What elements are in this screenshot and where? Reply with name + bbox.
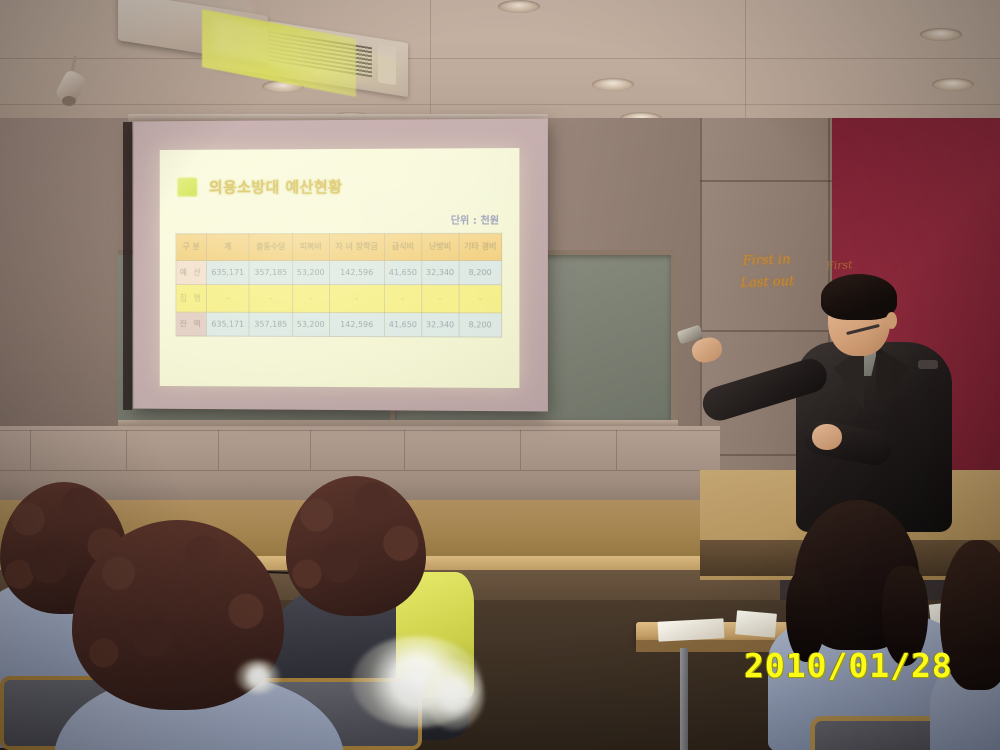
seated-attendee-3 — [278, 476, 458, 676]
seated-attendee-far-right — [940, 540, 1000, 750]
track-spotlight — [52, 56, 98, 104]
screen-left-shadow — [123, 122, 132, 410]
th-dispatch-allowance: 출동수당 — [249, 234, 292, 261]
row-label-balance: 잔 액 — [176, 312, 206, 336]
presenter-ear — [886, 312, 897, 329]
slide-title: 의용소방대 예산현황 — [209, 176, 342, 197]
th-other-expenses: 기타 경비 — [459, 233, 502, 260]
cell-value: 142,596 — [329, 312, 384, 336]
th-total: 계 — [206, 234, 249, 261]
presenter-hair — [821, 274, 897, 320]
recessed-light — [920, 28, 962, 41]
cell-value: - — [459, 285, 502, 313]
th-uniform-cost: 피복비 — [292, 234, 329, 261]
cell-value: - — [329, 284, 384, 312]
table-row: 집 행 - - - - - - - — [176, 284, 502, 313]
photograph-scene: First in Last out First — [0, 0, 1000, 750]
jacket-epaulet — [918, 360, 938, 369]
row-label-budget: 예 산 — [176, 261, 206, 285]
cell-value: 8,200 — [459, 260, 502, 284]
attendee-hair — [286, 476, 426, 616]
attendee-hair — [72, 520, 284, 710]
cell-value: - — [292, 284, 329, 312]
recessed-light — [932, 78, 974, 91]
cell-value: 357,185 — [249, 261, 292, 285]
th-heating-cost: 난방비 — [421, 233, 458, 260]
presenter-hand-second — [812, 424, 842, 450]
th-division: 구 분 — [176, 234, 206, 261]
slide-unit-label: 단위 : 천원 — [451, 212, 499, 227]
presentation-slide: 의용소방대 예산현황 단위 : 천원 구 분 계 출동수당 피복비 자 녀 장학… — [160, 148, 520, 388]
ceiling-projector — [118, 0, 308, 66]
handout-paper — [658, 618, 725, 641]
cell-value: - — [206, 284, 249, 312]
seated-attendee-2 — [72, 520, 302, 750]
row-label-execution: 집 행 — [176, 284, 206, 312]
cell-value: - — [249, 284, 292, 312]
th-meal-cost: 급식비 — [384, 233, 421, 260]
cell-value: 32,340 — [421, 260, 458, 284]
ceiling — [0, 0, 1000, 120]
table-header-row: 구 분 계 출동수당 피복비 자 녀 장학금 급식비 난방비 기타 경비 — [176, 233, 502, 260]
cell-value: 357,185 — [249, 312, 292, 336]
cell-value: 142,596 — [329, 260, 384, 284]
recessed-light — [592, 78, 634, 91]
recessed-light — [498, 0, 540, 13]
table-row: 예 산 635,171 357,185 53,200 142,596 41,65… — [176, 260, 502, 284]
standing-presenter — [790, 276, 960, 526]
title-bullet-icon — [177, 178, 197, 197]
cell-value: 635,171 — [206, 261, 249, 285]
camera-datestamp: 2010/01/28 — [744, 646, 953, 685]
slide-title-row: 의용소방대 예산현황 — [177, 176, 342, 198]
cell-value: 32,340 — [421, 313, 458, 337]
cell-value: - — [421, 285, 458, 313]
projection-screen: 의용소방대 예산현황 단위 : 천원 구 분 계 출동수당 피복비 자 녀 장학… — [133, 119, 548, 412]
cell-value: 41,650 — [384, 313, 421, 337]
budget-table: 구 분 계 출동수당 피복비 자 녀 장학금 급식비 난방비 기타 경비 예 산… — [175, 233, 502, 338]
th-children-scholarship: 자 녀 장학금 — [329, 233, 384, 260]
cell-value: 8,200 — [459, 313, 502, 337]
cell-value: 53,200 — [292, 261, 329, 285]
cell-value: - — [384, 285, 421, 313]
cell-value: 53,200 — [292, 312, 329, 336]
cell-value: 41,650 — [384, 260, 421, 284]
table-row: 잔 액 635,171 357,185 53,200 142,596 41,65… — [176, 312, 502, 337]
cell-value: 635,171 — [206, 312, 249, 336]
table-leg — [680, 648, 688, 750]
